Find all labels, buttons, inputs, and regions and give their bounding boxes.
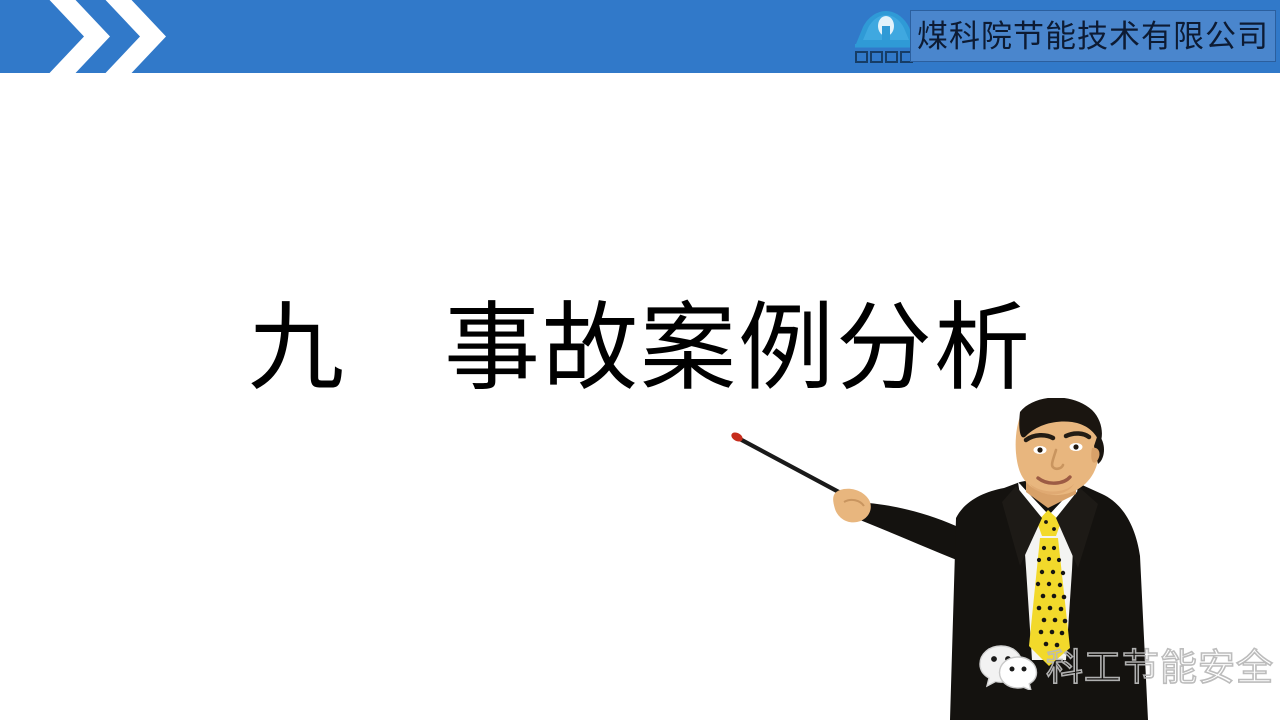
pointer-stick	[730, 431, 850, 498]
presentation-slide: 煤科院节能技术有限公司 九 事故案例分析	[0, 0, 1280, 720]
page-title: 九 事故案例分析	[0, 297, 1280, 401]
wechat-watermark: 科工节能安全	[978, 641, 1278, 693]
watermark-label: 科工节能安全	[1046, 649, 1274, 686]
double-chevron-right-icon	[40, 0, 170, 73]
wechat-icon	[978, 644, 1040, 690]
company-name-box: 煤科院节能技术有限公司	[910, 10, 1276, 62]
slide-header-band: 煤科院节能技术有限公司	[0, 0, 1280, 73]
company-name-label: 煤科院节能技术有限公司	[917, 21, 1269, 52]
